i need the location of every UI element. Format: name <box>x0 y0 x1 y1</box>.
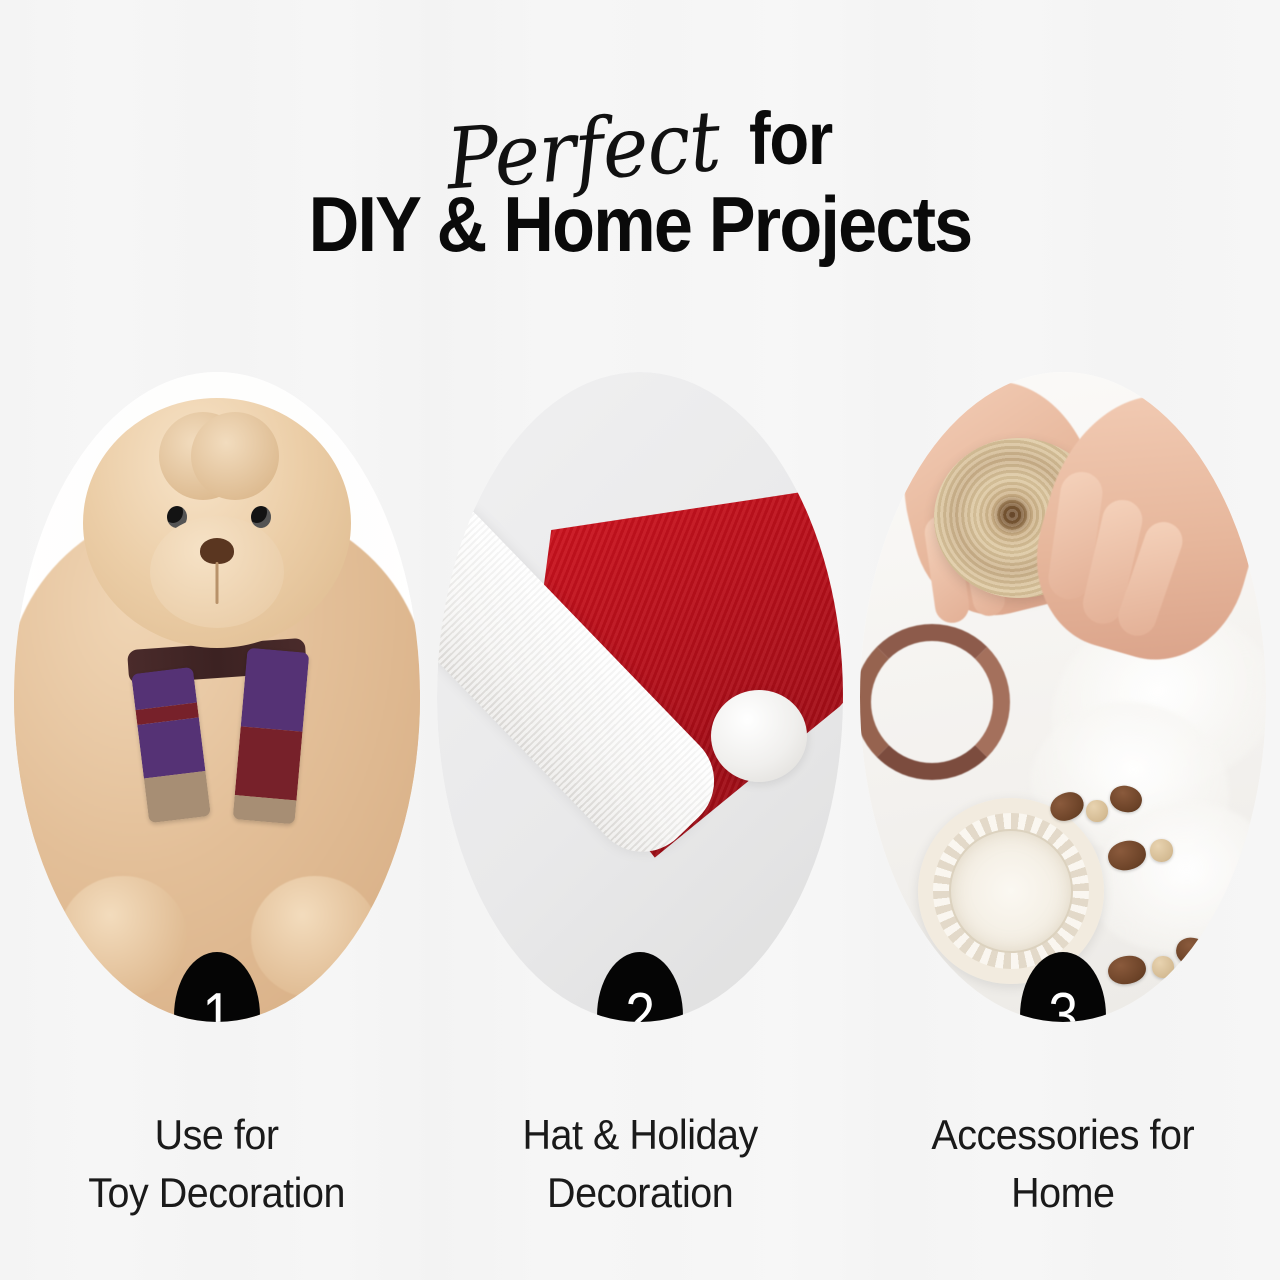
promo-infographic: Perfect for DIY & Home Projects <box>0 0 1280 1280</box>
scarf-band-purple <box>241 648 310 732</box>
card-caption-1: Use for Toy Decoration <box>89 1106 346 1222</box>
bear-nose-shape <box>200 538 234 564</box>
scarf-band-tan <box>233 795 297 824</box>
santa-hat-illustration <box>437 372 843 1022</box>
wooden-bead-shape <box>1150 839 1173 862</box>
step-number: 2 <box>625 985 655 1022</box>
scarf-band-purple <box>137 717 205 778</box>
card-caption-2: Hat & Holiday Decoration <box>522 1106 757 1222</box>
scarf-band-tan <box>144 771 211 823</box>
bear-head-shape <box>83 398 351 648</box>
feature-card-3[interactable]: 3 Accessories for Home <box>860 372 1266 1222</box>
dreamcatcher-craft-illustration <box>860 372 1266 1022</box>
wooden-bead-shape <box>1152 956 1174 978</box>
bear-foot-left-shape <box>59 876 187 998</box>
feature-card-2[interactable]: 2 Hat & Holiday Decoration <box>437 372 843 1222</box>
headline-bold-word: for <box>749 102 832 176</box>
card-caption-3: Accessories for Home <box>932 1106 1195 1222</box>
scarf-tail-left <box>131 667 211 823</box>
wooden-bead-shape <box>1086 800 1108 822</box>
santa-hat-pompom <box>711 690 807 782</box>
bear-ear-right-shape <box>191 412 279 500</box>
photo-oval-craft-dreamcatcher: 3 <box>860 372 1266 1022</box>
step-number: 1 <box>202 985 232 1022</box>
photo-oval-santa-hat: 2 <box>437 372 843 1022</box>
headline-line-1: Perfect for <box>0 78 1280 178</box>
bear-scarf <box>122 644 312 824</box>
bear-foot-right-shape <box>251 876 379 998</box>
headline-line-2: DIY & Home Projects <box>64 184 1216 266</box>
page-title: Perfect for DIY & Home Projects <box>0 78 1280 266</box>
feature-cards-row: 1 Use for Toy Decoration 2 Hat & Holiday… <box>0 372 1280 1222</box>
teddy-bear-illustration <box>14 372 420 1022</box>
photo-oval-teddy-bear: 1 <box>14 372 420 1022</box>
wooden-hoop-shape <box>860 624 1010 780</box>
feature-card-1[interactable]: 1 Use for Toy Decoration <box>14 372 420 1222</box>
step-number: 3 <box>1048 985 1078 1022</box>
bear-mouth-shape <box>216 562 219 604</box>
scarf-band-maroon <box>235 726 303 800</box>
